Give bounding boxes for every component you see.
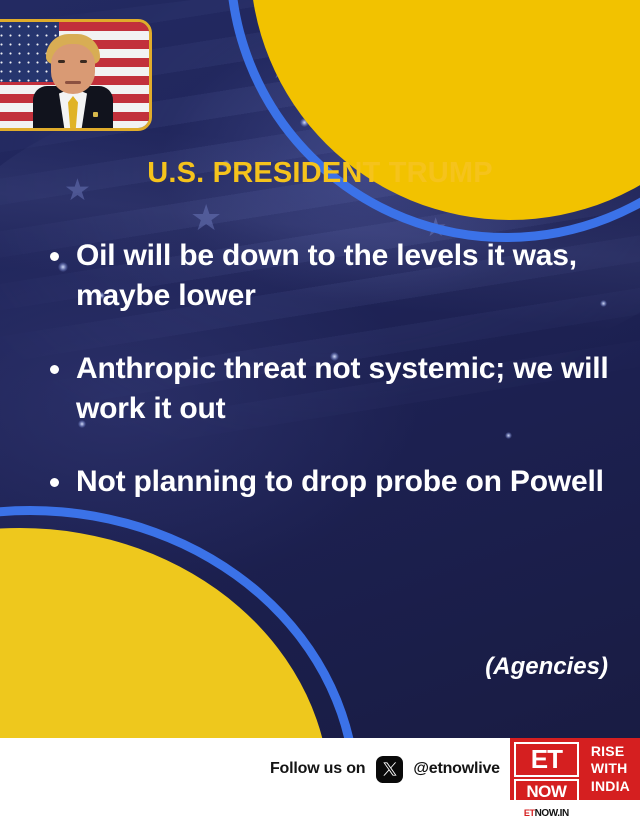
tagline-line-3: INDIA (591, 778, 630, 795)
list-item: Anthropic threat not systemic; we will w… (44, 349, 624, 428)
trump-photo-card (0, 19, 152, 131)
portrait-mouth (65, 81, 81, 84)
x-twitter-icon[interactable] (376, 756, 403, 783)
follow-us-label: Follow us on (270, 760, 365, 778)
trump-portrait (27, 34, 119, 131)
logo-et-text: ET (514, 742, 579, 777)
portrait-eye-right (80, 60, 87, 63)
logo-url-main: NOW.IN (535, 808, 569, 819)
social-handle[interactable]: @etnowlive (413, 760, 500, 778)
star-decor-icon: ★ (190, 200, 222, 236)
list-item: Oil will be down to the levels it was, m… (44, 236, 624, 315)
bullet-dot-icon (50, 252, 59, 261)
logo-url-strip: ETNOW.IN (514, 807, 579, 820)
et-now-logo: ET NOW ETNOW.IN RISE WITH INDIA (510, 738, 640, 800)
bullet-dot-icon (50, 478, 59, 487)
footer-bar: Follow us on @etnowlive ET NOW ETNOW.IN … (0, 738, 640, 800)
et-now-logo-mark: ET NOW ETNOW.IN (510, 738, 583, 800)
tagline-line-1: RISE (591, 743, 630, 760)
portrait-face (51, 44, 95, 94)
bullet-dot-icon (50, 365, 59, 374)
source-attribution: (Agencies) (485, 653, 608, 681)
logo-now-text: NOW (514, 779, 579, 805)
bullet-text: Not planning to drop probe on Powell (76, 462, 604, 502)
news-graphic-card: ★ ★ ★ ★ ★ ★ U.S. PRESIDENT TRUMP (0, 0, 640, 738)
bullet-text: Oil will be down to the levels it was, m… (76, 236, 624, 315)
logo-url-prefix: ET (524, 808, 535, 818)
list-item: Not planning to drop probe on Powell (44, 462, 624, 502)
portrait-lapel-pin (93, 112, 98, 117)
page-title: U.S. PRESIDENT TRUMP (0, 157, 640, 190)
tagline-line-2: WITH (591, 760, 630, 777)
bullet-text: Anthropic threat not systemic; we will w… (76, 349, 624, 428)
bullet-list: Oil will be down to the levels it was, m… (44, 236, 624, 536)
logo-tagline: RISE WITH INDIA (583, 738, 640, 800)
portrait-eye-left (58, 60, 65, 63)
